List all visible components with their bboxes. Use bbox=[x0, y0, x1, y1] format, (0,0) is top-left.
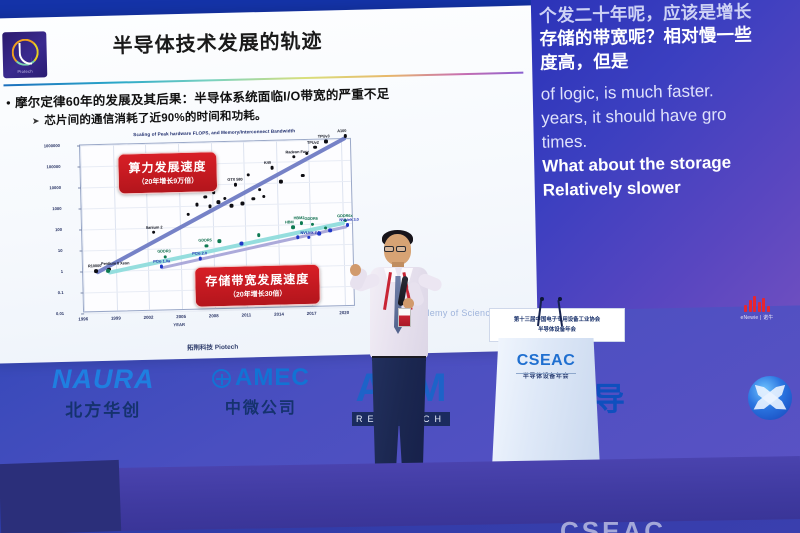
chart-xtick-label: 2005 bbox=[166, 314, 196, 320]
chart-data-point bbox=[311, 223, 314, 226]
chart-point-label: GTX 580 bbox=[227, 176, 242, 181]
speaker-person bbox=[348, 224, 456, 500]
amec-ring-icon bbox=[212, 369, 231, 388]
chart-point-label: Itanium 2 bbox=[146, 224, 163, 229]
chart-data-point bbox=[258, 188, 261, 191]
banner-line-1: 第十三届中国电子专用设备工业协会 bbox=[490, 315, 624, 323]
chart-xtick-label: 2002 bbox=[133, 314, 163, 320]
chart-ytick-label: 100 bbox=[28, 227, 62, 233]
chart-point-label: HBM2 bbox=[294, 215, 305, 220]
podium-mic-head-right bbox=[558, 297, 562, 301]
chart-ytick-label: 100000 bbox=[26, 164, 60, 170]
chart-ytick bbox=[79, 208, 82, 209]
chart-data-point bbox=[199, 257, 202, 260]
chart-data-point bbox=[292, 155, 295, 158]
chart-data-point bbox=[318, 232, 321, 235]
chart-xtick-label: 2014 bbox=[264, 311, 294, 317]
enewie-bars-icon bbox=[726, 296, 788, 312]
chart-data-point bbox=[296, 235, 299, 238]
chart-point-label: Pentium II Xeon bbox=[101, 261, 130, 267]
podium-logo-rule bbox=[516, 373, 576, 374]
logo-caption: Piotech bbox=[3, 68, 47, 74]
annotation-memory-subtitle: （20年增长30倍） bbox=[206, 288, 310, 301]
chart-data-point bbox=[234, 183, 237, 186]
annotation-compute-subtitle: （20年增长9万倍） bbox=[129, 175, 207, 187]
title-rainbow-rule bbox=[3, 72, 523, 87]
chart-point-label: GDDR5 bbox=[198, 238, 211, 243]
chart-data-point bbox=[230, 204, 233, 207]
chart-data-point bbox=[106, 269, 109, 272]
chart-data-point bbox=[262, 195, 265, 198]
chart-ytick bbox=[80, 271, 83, 272]
conference-banner: 第十三届中国电子专用设备工业协会 半导体设备年会 bbox=[489, 308, 625, 342]
chart-data-point bbox=[257, 234, 260, 237]
amec-mark: AMEC bbox=[235, 364, 310, 391]
naura-cn: 北方华创 bbox=[52, 396, 155, 421]
chart-data-point bbox=[160, 265, 163, 268]
chart-title: Scaling of Peak hardware FLOPS, and Memo… bbox=[87, 127, 342, 138]
podium-logo-main: CSEAC bbox=[514, 352, 578, 370]
chart: Scaling of Peak hardware FLOPS, and Memo… bbox=[49, 130, 369, 338]
slide-footer-brand: 拓荆科技 Piotech bbox=[187, 341, 239, 352]
chart-data-point bbox=[204, 195, 207, 198]
chart-ytick-label: 10 bbox=[29, 248, 63, 254]
chart-data-point bbox=[205, 244, 208, 247]
chart-point-label: PCIe 1.0a bbox=[153, 258, 170, 263]
chart-point-label: K40 bbox=[264, 160, 271, 165]
stage-scene: Piotech 半导体技术发展的轨迹 摩尔定律60年的发展及其后果：半导体系统面… bbox=[0, 0, 800, 533]
piotech-slide-logo: Piotech bbox=[2, 31, 47, 78]
chart-data-point bbox=[324, 140, 327, 143]
chart-data-point bbox=[279, 180, 282, 183]
subtitle-panel: 个发二十年呢，应该是增长 存储的带宽呢？相对慢一些 度高，但是 of logic… bbox=[531, 0, 800, 311]
subtitle-en-line-5: Relatively slower bbox=[543, 173, 800, 203]
chart-ytick bbox=[79, 229, 82, 230]
podium-logo: CSEAC 半导体设备年会 bbox=[514, 352, 578, 380]
chart-data-point bbox=[344, 134, 347, 137]
chart-point-label: GDDR3 bbox=[157, 249, 170, 254]
speaker-glasses-right bbox=[396, 246, 406, 252]
chart-data-point bbox=[252, 197, 255, 200]
chart-annotation-compute: 算力发展速度 （20年增长9万倍） bbox=[117, 151, 218, 194]
chart-ytick-label: 10000 bbox=[27, 185, 61, 191]
chart-data-point bbox=[240, 242, 243, 245]
chart-point-label: A100 bbox=[337, 128, 346, 133]
annotation-memory-title: 存储带宽发展速度 bbox=[205, 270, 309, 290]
chart-xtick-label: 2017 bbox=[297, 311, 327, 317]
chart-data-point bbox=[152, 231, 155, 234]
chart-data-point bbox=[328, 229, 331, 232]
speaker-badge bbox=[398, 308, 411, 327]
naura-mark: NAURA bbox=[52, 364, 155, 395]
chart-point-label: HBM bbox=[285, 219, 294, 224]
speaker-hand-left bbox=[350, 264, 361, 276]
chart-ytick bbox=[80, 250, 83, 251]
chart-ytick bbox=[78, 166, 81, 167]
amec-cn: 中微公司 bbox=[212, 394, 310, 418]
enewie-name: eNewie | 诺牛 bbox=[726, 314, 788, 321]
chart-data-point bbox=[187, 212, 190, 215]
enewie-sponsor-logo: eNewie | 诺牛 bbox=[726, 296, 788, 321]
chart-data-point bbox=[313, 146, 316, 149]
chart-data-point bbox=[217, 200, 220, 203]
chart-ytick bbox=[81, 292, 84, 293]
globe-sponsor-logo bbox=[748, 376, 792, 420]
slide-title: 半导体技术发展的轨迹 bbox=[112, 25, 323, 59]
chart-point-label: GDDR6 bbox=[304, 216, 317, 221]
chart-ytick-label: 1000 bbox=[27, 206, 61, 212]
stage-floor-text: CSEAC bbox=[560, 516, 666, 533]
chart-xtick-label: 1999 bbox=[101, 315, 131, 321]
chart-annotation-memory: 存储带宽发展速度 （20年增长30倍） bbox=[194, 264, 321, 308]
chart-data-point bbox=[208, 205, 211, 208]
chart-data-point bbox=[218, 240, 221, 243]
chart-xtick-label: 2008 bbox=[199, 313, 229, 319]
chart-xtick-label: 2011 bbox=[231, 312, 261, 318]
banner-line-2: 半导体设备年会 bbox=[490, 325, 624, 333]
sponsor-amec: AMEC 中微公司 bbox=[212, 364, 310, 418]
speaker-glasses-left bbox=[384, 246, 394, 252]
chart-ytick-label: 1 bbox=[29, 269, 63, 275]
chart-data-point bbox=[291, 226, 294, 229]
chart-point-label: TPUv2 bbox=[307, 139, 319, 144]
slide-bullet-sub: 芯片间的通信消耗了近90%的时间和功耗。 bbox=[32, 107, 267, 129]
speaker-trousers bbox=[372, 358, 426, 474]
chart-point-label: TPUv3 bbox=[318, 133, 330, 138]
chart-point-label: PCIe 2.0 bbox=[192, 250, 207, 255]
chart-data-point bbox=[270, 166, 273, 169]
stage-floor-shadow bbox=[0, 460, 121, 533]
chart-data-point bbox=[301, 174, 304, 177]
chart-xtick-label: 1996 bbox=[68, 316, 98, 322]
chart-data-point bbox=[247, 173, 250, 176]
annotation-compute-title: 算力发展速度 bbox=[128, 157, 206, 176]
slide-bullet-main: 摩尔定律60年的发展及其后果：半导体系统面临I/O带宽的严重不足 bbox=[6, 83, 390, 111]
chart-xaxis-title: YEAR bbox=[173, 322, 185, 327]
chart-ytick-label: 0.01 bbox=[30, 311, 64, 317]
chart-point-label: NVLink 3.0 bbox=[339, 217, 359, 222]
podium-mic-head-left bbox=[540, 297, 544, 301]
chart-ytick-label: 0.1 bbox=[30, 290, 64, 296]
chart-ytick bbox=[78, 187, 81, 188]
chart-data-point bbox=[94, 269, 97, 272]
sponsor-naura: NAURA 北方华创 bbox=[52, 364, 155, 421]
chart-data-point bbox=[241, 202, 244, 205]
chart-ytick-label: 1000000 bbox=[26, 143, 60, 149]
chart-point-label: R10000 bbox=[88, 263, 101, 268]
chart-data-point bbox=[195, 203, 198, 206]
chart-ytick bbox=[81, 313, 84, 314]
chart-data-point bbox=[305, 152, 308, 155]
chart-ytick bbox=[77, 145, 80, 146]
